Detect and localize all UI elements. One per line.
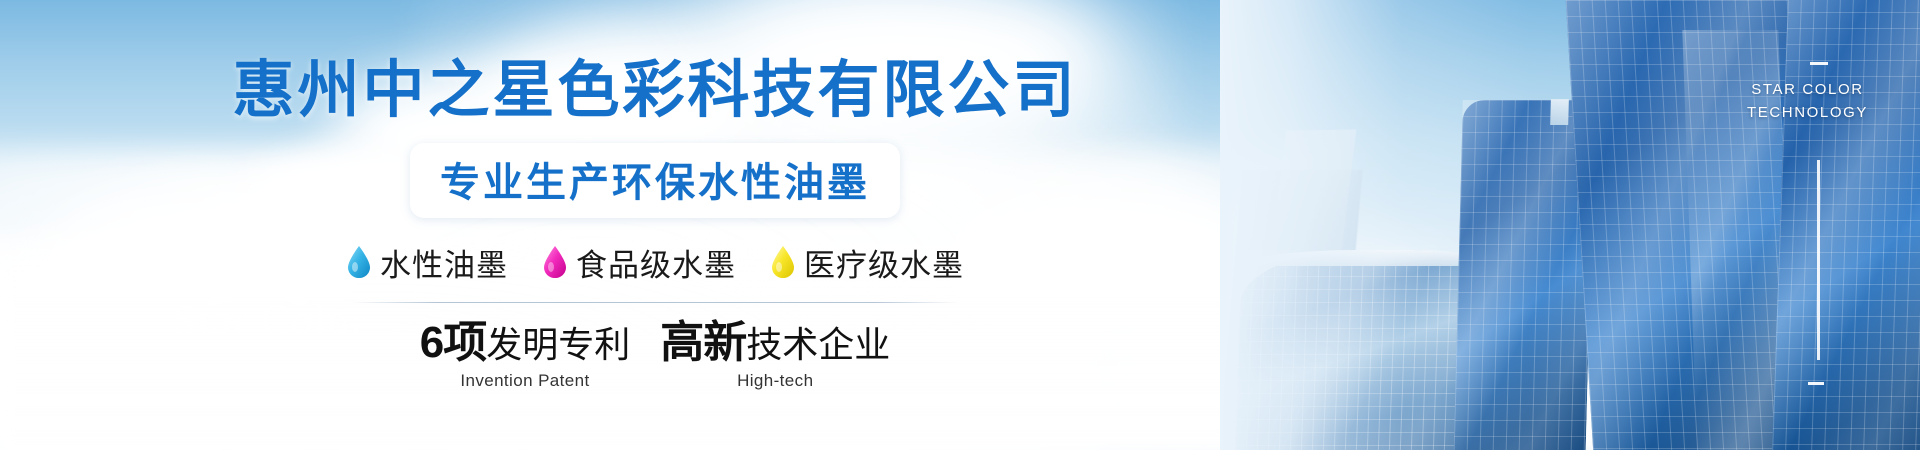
feature-item-medical-grade-ink: 医疗级水墨 (770, 240, 964, 285)
feature-item-food-grade-ink: 食品级水墨 (542, 240, 736, 285)
building-overlay-text: STAR COLOR TECHNOLOGY (1747, 78, 1868, 125)
building-far-right (1771, 0, 1920, 450)
badge-en-label: Invention Patent (420, 371, 631, 391)
subtitle-pill-wrap: 专业生产环保水性油墨 (0, 143, 1310, 218)
promo-banner: STAR COLOR TECHNOLOGY Star Color 惠州中之星色彩… (0, 0, 1920, 450)
badge-invention-patent: 6项发明专利 Invention Patent (420, 319, 631, 391)
glass-sheen (1453, 100, 1595, 450)
water-drop-icon (346, 245, 372, 279)
subtitle-pill: 专业生产环保水性油墨 (410, 143, 900, 218)
overlay-rule-bottom (1808, 382, 1824, 385)
badge-cn-rest: 技术企业 (746, 324, 890, 365)
credential-badges: 6项发明专利 Invention Patent 高新技术企业 High-tech (0, 319, 1310, 391)
feature-item-water-based-ink: 水性油墨 (346, 240, 508, 285)
feature-label: 食品级水墨 (576, 240, 736, 285)
badge-cn-line: 高新技术企业 (660, 319, 890, 367)
banner-content: 惠州中之星色彩科技有限公司 专业生产环保水性油墨 水性油 (0, 0, 1310, 450)
building-round-tower (1453, 100, 1595, 450)
overlay-rule-top (1810, 62, 1828, 65)
feature-label: 医疗级水墨 (804, 240, 964, 285)
feature-list: 水性油墨 食品级水墨 (0, 240, 1310, 285)
water-drop-icon (770, 245, 796, 279)
overlay-rule-vertical (1817, 160, 1820, 360)
badge-cn-strong: 6项 (420, 318, 486, 367)
section-divider (351, 302, 959, 303)
feature-label: 水性油墨 (380, 240, 508, 285)
badge-en-label: High-tech (660, 371, 890, 391)
badge-cn-rest: 发明专利 (486, 324, 630, 365)
badge-cn-strong: 高新 (660, 318, 746, 367)
badge-cn-line: 6项发明专利 (420, 319, 631, 367)
page-title: 惠州中之星色彩科技有限公司 (0, 0, 1310, 125)
building-roof-notch (1550, 99, 1569, 125)
overlay-line-2: TECHNOLOGY (1747, 101, 1868, 124)
badge-high-tech: 高新技术企业 High-tech (660, 319, 890, 391)
overlay-line-1: STAR COLOR (1747, 78, 1868, 101)
water-drop-icon (542, 245, 568, 279)
glass-sheen (1771, 0, 1920, 450)
